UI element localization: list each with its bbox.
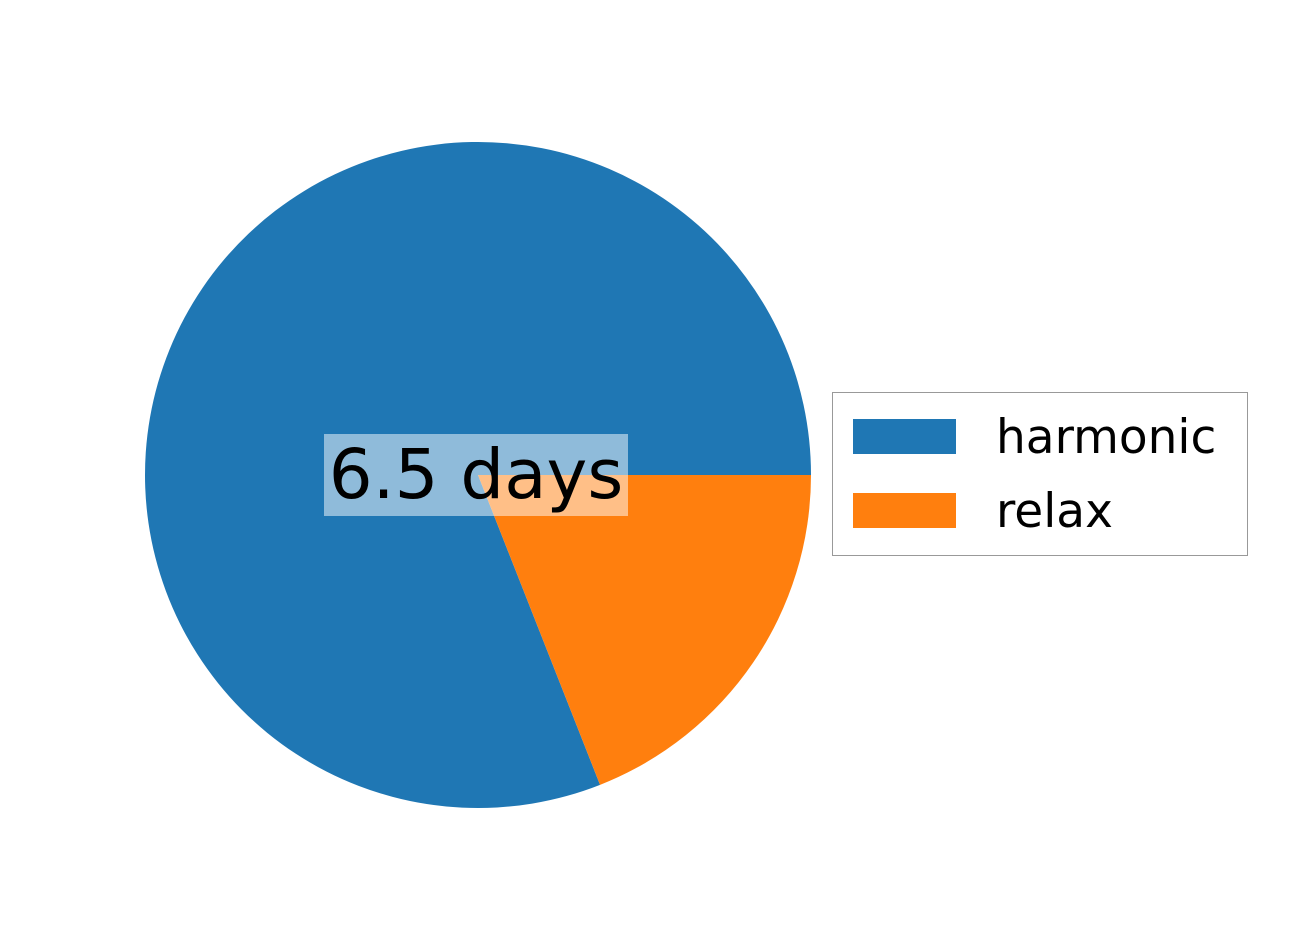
legend-swatch-relax [853,493,956,528]
legend-entry-relax[interactable]: relax [833,479,1247,553]
legend-swatch-harmonic [853,419,956,454]
figure-canvas: 6.5 days harmonic relax [0,0,1307,951]
legend-entry-harmonic[interactable]: harmonic [833,405,1247,479]
legend-label-harmonic: harmonic [996,405,1216,469]
chart-legend: harmonic relax [832,392,1248,556]
legend-label-relax: relax [996,479,1113,543]
pie-center-annotation: 6.5 days [324,434,628,516]
